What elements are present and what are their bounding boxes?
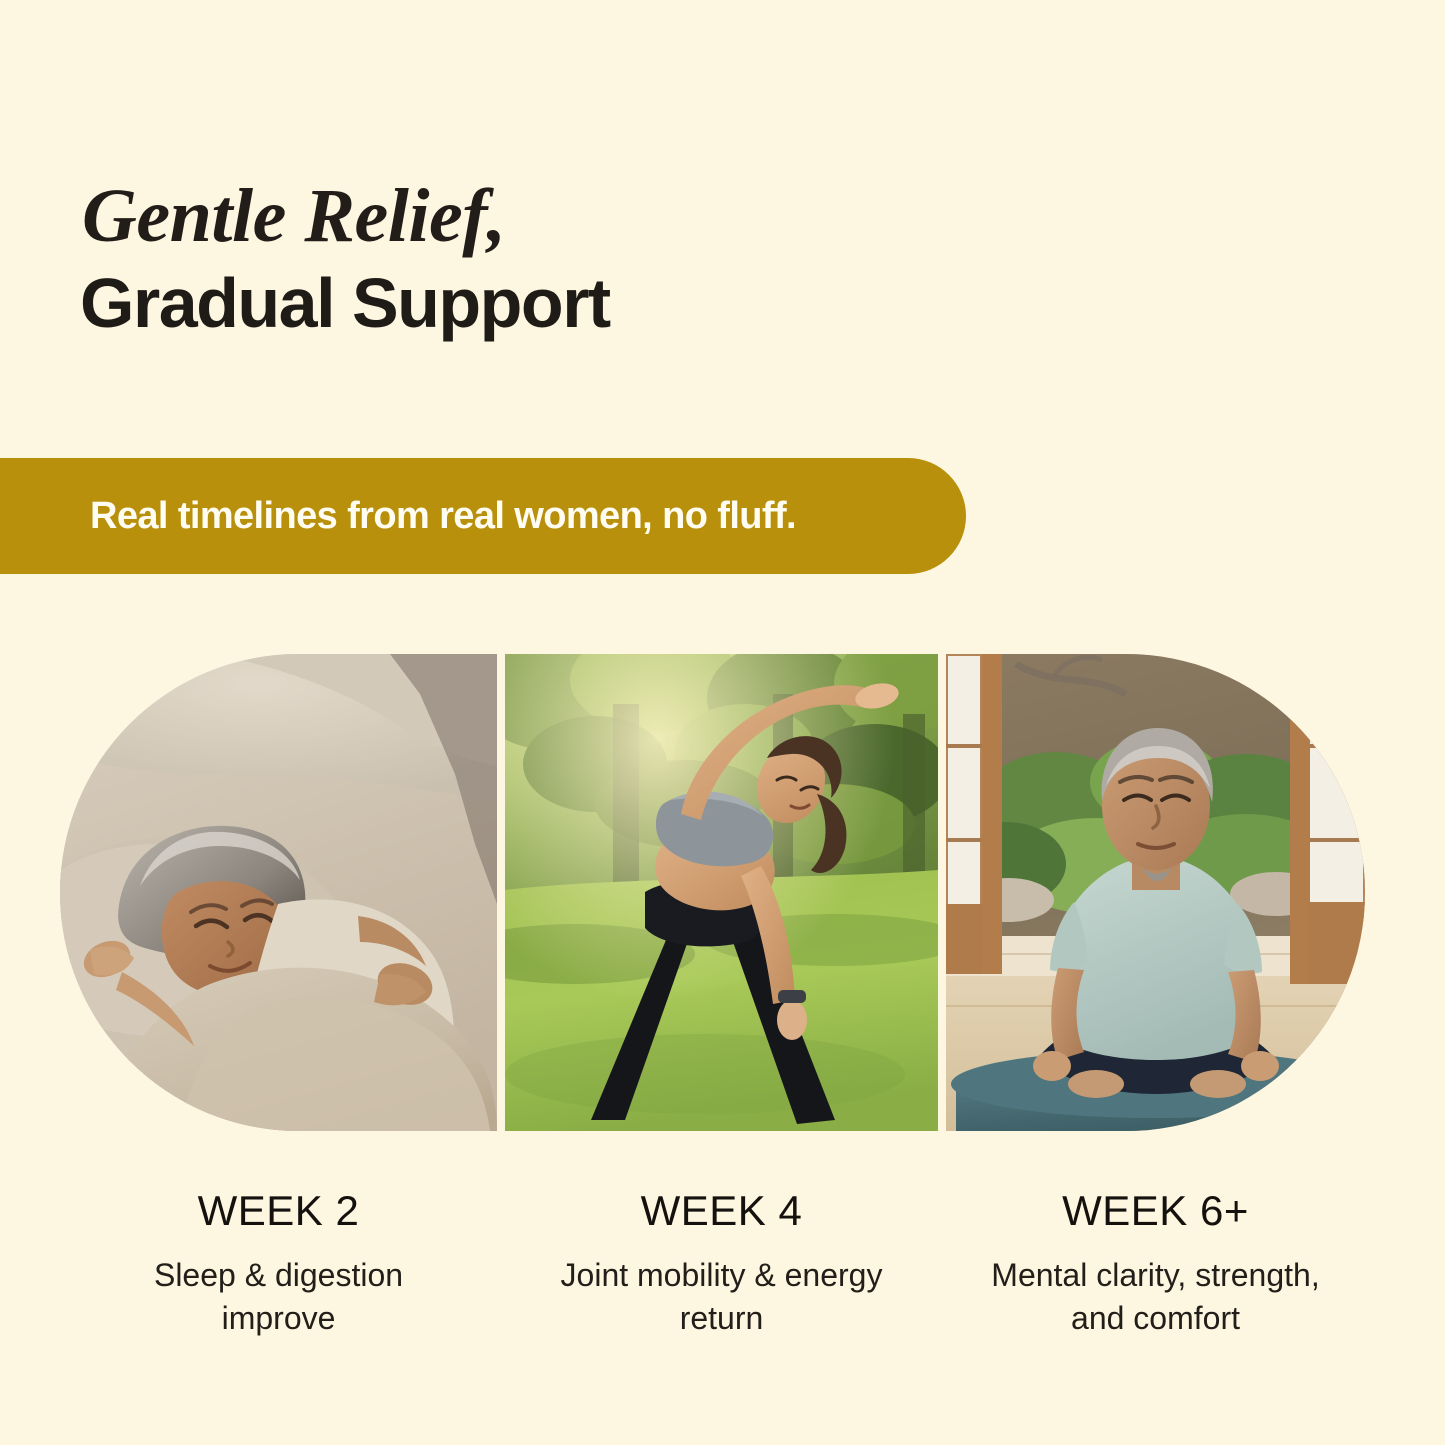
page-title: Gentle Relief, Gradual Support <box>80 178 980 338</box>
page-title-line-1: Gentle Relief, <box>82 178 980 254</box>
timeline-item-description: Joint mobility & energy return <box>557 1254 887 1340</box>
timeline-item-description: Sleep & digestion improve <box>114 1254 444 1340</box>
timeline-item-week-6-plus: WEEK 6+ Mental clarity, strength, and co… <box>946 1190 1365 1340</box>
woman-stretching-in-park-photo <box>505 654 938 1131</box>
woman-meditating-on-mat-photo <box>946 654 1365 1131</box>
timeline-item-title: WEEK 4 <box>505 1190 938 1232</box>
page-title-line-2: Gradual Support <box>80 268 980 338</box>
timeline-item-week-2: WEEK 2 Sleep & digestion improve <box>60 1190 497 1340</box>
timeline-image-strip <box>60 654 1365 1131</box>
timeline-item-title: WEEK 6+ <box>946 1190 1365 1232</box>
tagline-banner-text: Real timelines from real women, no fluff… <box>90 495 796 538</box>
tagline-banner: Real timelines from real women, no fluff… <box>0 458 966 574</box>
woman-sleeping-in-bed-photo <box>60 654 497 1131</box>
promo-page: Gentle Relief, Gradual Support Real time… <box>0 0 1445 1445</box>
timeline-item-week-4: WEEK 4 Joint mobility & energy return <box>505 1190 938 1340</box>
timeline-item-description: Mental clarity, strength, and comfort <box>991 1254 1321 1340</box>
timeline-captions: WEEK 2 Sleep & digestion improve WEEK 4 … <box>60 1190 1365 1340</box>
timeline-item-title: WEEK 2 <box>60 1190 497 1232</box>
